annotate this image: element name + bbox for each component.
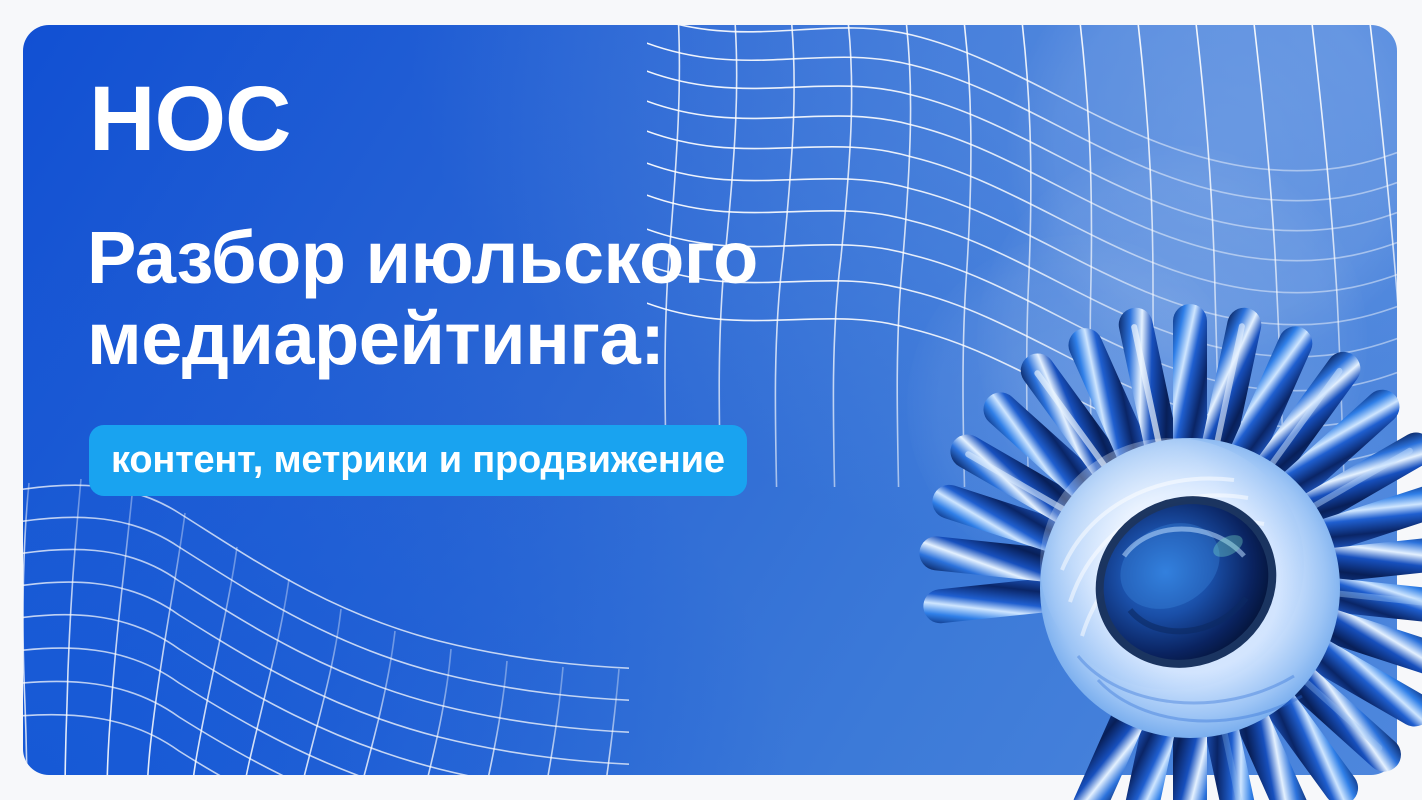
glow-blob-3 xyxy=(907,235,1247,575)
subtitle-pill-label: контент, метрики и продвижение xyxy=(111,439,725,482)
page-title: Разбор июльского медиарейтинга: xyxy=(87,217,758,380)
hero-card: НОС Разбор июльского медиарейтинга: конт… xyxy=(23,25,1397,775)
subtitle-pill: контент, метрики и продвижение xyxy=(89,425,747,496)
slide-canvas: НОС Разбор июльского медиарейтинга: конт… xyxy=(0,0,1422,800)
glow-blob-2 xyxy=(977,145,1367,535)
mesh-bottom-left-icon xyxy=(23,455,629,775)
brand-logo: НОС xyxy=(89,73,290,165)
mesh-top-right-icon xyxy=(647,25,1397,487)
glow-blob-4 xyxy=(1127,355,1397,655)
glow-blob-1 xyxy=(1007,25,1397,365)
